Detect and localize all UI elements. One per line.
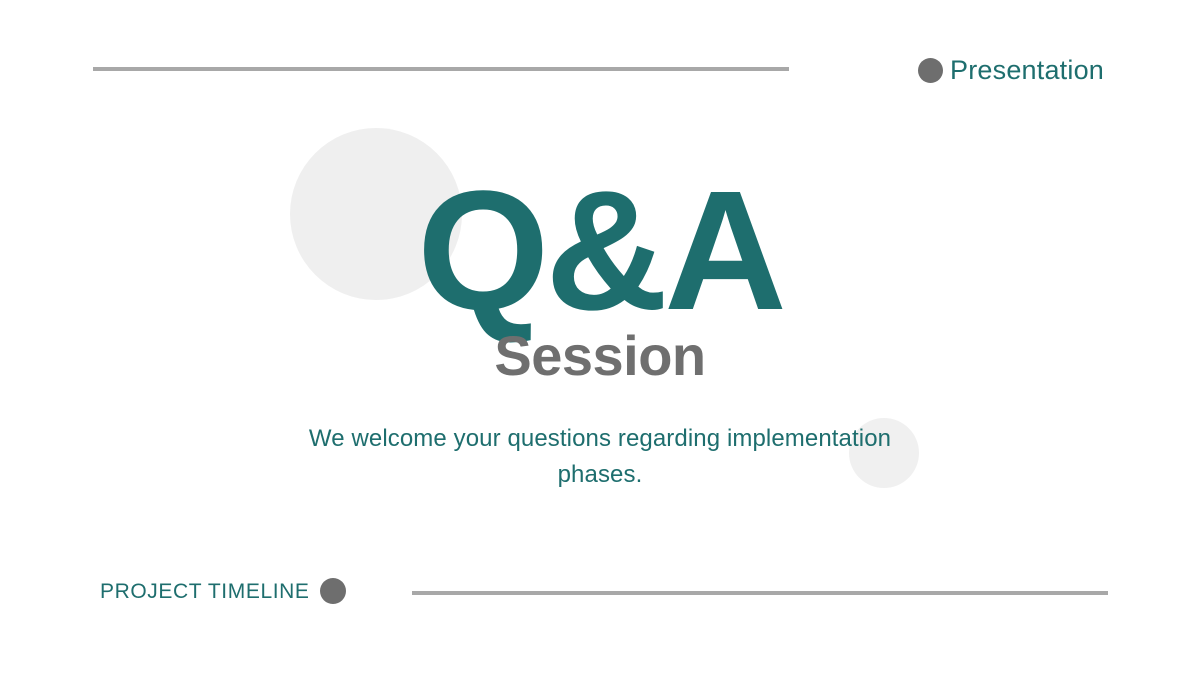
header-presentation-label: Presentation [918,57,1104,84]
horizontal-rule-bottom [412,591,1108,595]
footer-label-text: PROJECT TIMELINE [100,581,310,602]
body-text: We welcome your questions regarding impl… [300,421,900,492]
page-subtitle: Session [0,325,1200,387]
filled-circle-icon [320,578,346,604]
page-title: Q&A [0,166,1200,336]
presentation-slide: Presentation Q&A Session We welcome your… [0,0,1200,675]
footer-project-timeline-label: PROJECT TIMELINE [100,578,346,604]
header-label-text: Presentation [950,57,1104,84]
filled-circle-icon [918,58,943,83]
horizontal-rule-top [93,67,789,71]
